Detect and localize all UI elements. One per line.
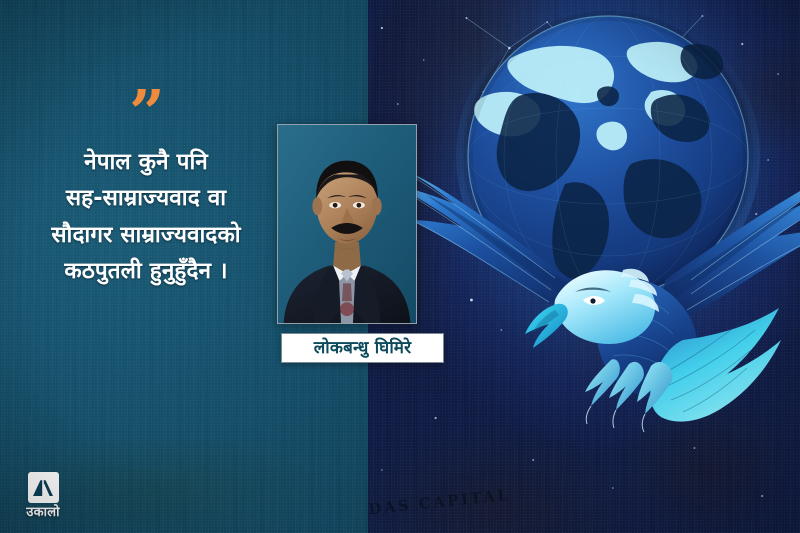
background-vignette [0, 0, 800, 533]
quote-poster: ” नेपाल कुनै पनि सह-साम्राज्यवाद वा सौदा… [0, 0, 800, 533]
